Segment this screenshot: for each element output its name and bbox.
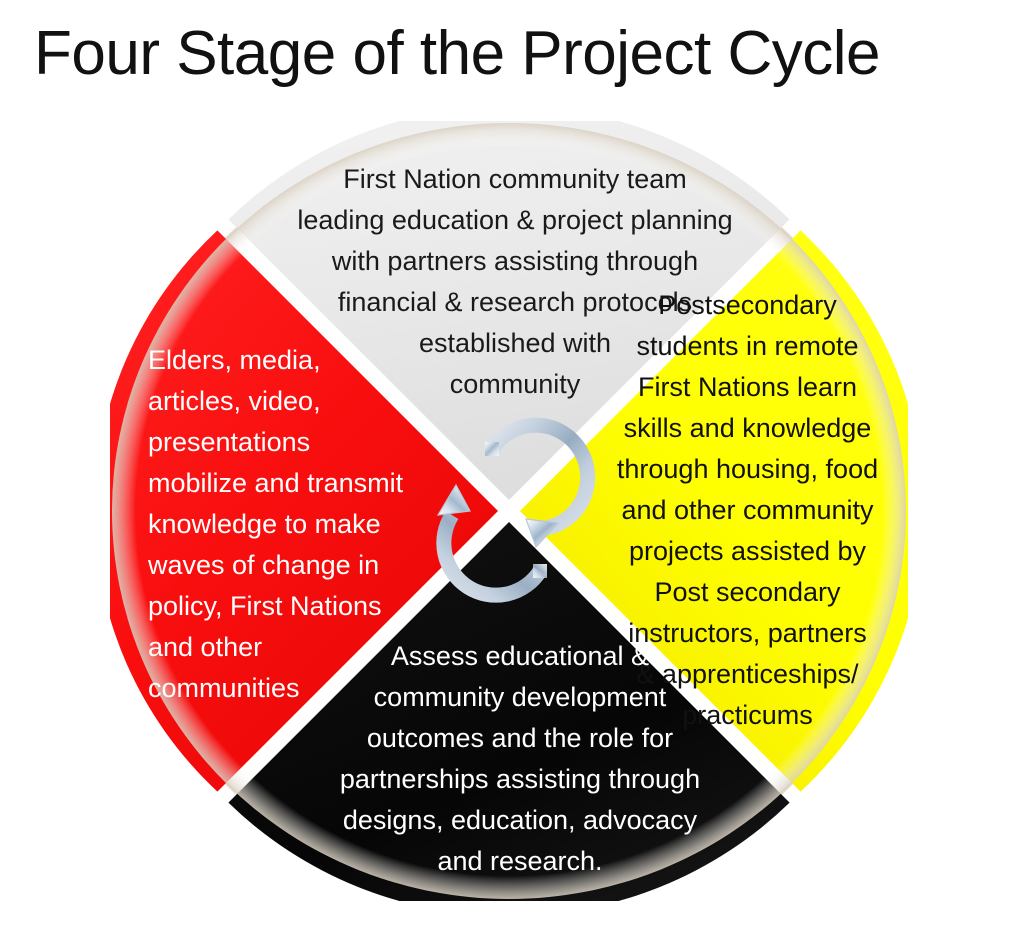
wheel-graphic <box>110 121 908 901</box>
page-title: Four Stage of the Project Cycle <box>34 18 994 90</box>
four-stage-cycle-wheel: First Nation community team leading educ… <box>110 121 908 901</box>
